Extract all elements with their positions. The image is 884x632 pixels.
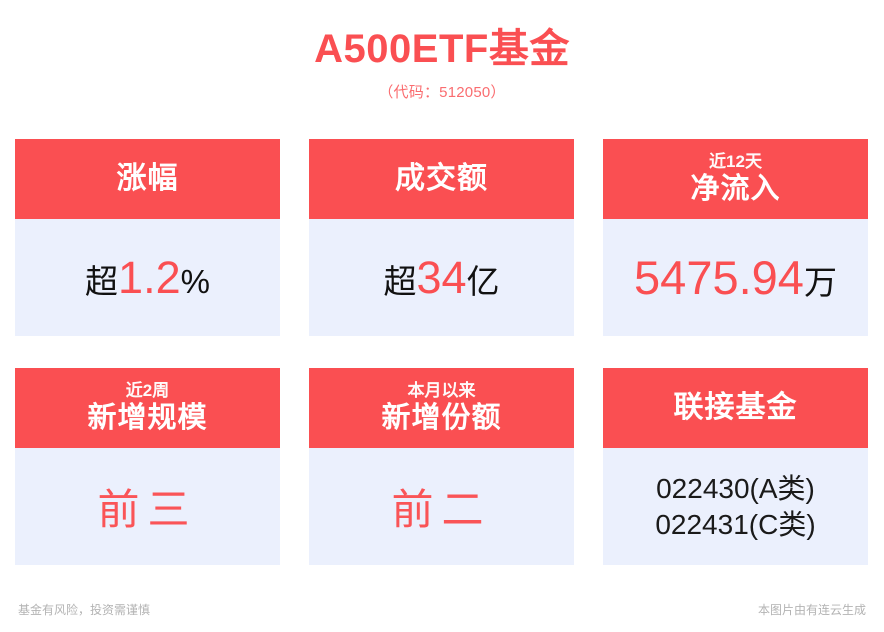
value-suffix-change-rate: % [181, 263, 210, 300]
card-body-change-rate: 超1.2% [15, 219, 280, 336]
card-header-new-scale: 近2周 新增规模 [15, 368, 280, 448]
value-suffix-turnover: 亿 [467, 263, 500, 300]
card-body-net-inflow: 5475.94万 [603, 219, 868, 336]
card-header-sub-new-shares: 本月以来 [408, 380, 476, 401]
card-header-feeder-fund: 联接基金 [603, 368, 868, 448]
card-header-main-new-scale: 新增规模 [87, 401, 207, 436]
feeder-fund-code-a: 022430(A类) [656, 471, 815, 507]
card-header-sub-net-inflow: 近12天 [709, 151, 762, 172]
feeder-fund-code-c: 022431(C类) [655, 507, 815, 543]
metric-card-grid: 涨幅 超1.2% 成交额 超34亿 近12天 净流入 5475.94万 [15, 139, 869, 565]
metric-card-new-shares[interactable]: 本月以来 新增份额 前二 [309, 368, 574, 565]
metric-value-change-rate: 超1.2% [85, 252, 210, 304]
page-title: A500ETF基金 [0, 26, 884, 73]
card-header-turnover: 成交额 [309, 139, 574, 219]
card-header-net-inflow: 近12天 净流入 [603, 139, 868, 219]
metric-card-turnover[interactable]: 成交额 超34亿 [309, 139, 574, 336]
metric-value-net-inflow: 5475.94万 [634, 250, 837, 305]
metric-value-new-scale: 前三 [97, 476, 197, 537]
card-header-new-shares: 本月以来 新增份额 [309, 368, 574, 448]
metric-value-turnover: 超34亿 [383, 252, 499, 304]
card-header-main-net-inflow: 净流入 [690, 172, 780, 207]
card-header-sub-new-scale: 近2周 [126, 380, 169, 401]
card-header-main-turnover: 成交额 [395, 161, 488, 197]
metric-card-feeder-fund[interactable]: 联接基金 022430(A类) 022431(C类) [603, 368, 868, 565]
metric-card-net-inflow[interactable]: 近12天 净流入 5475.94万 [603, 139, 868, 336]
fund-code-subtitle: （代码：512050） [0, 81, 884, 102]
card-header-change-rate: 涨幅 [15, 139, 280, 219]
source-attribution: 本图片由有连云生成 [758, 601, 866, 618]
risk-disclaimer: 基金有风险，投资需谨慎 [18, 601, 150, 618]
value-prefix-turnover: 超 [383, 263, 416, 300]
metric-card-new-scale[interactable]: 近2周 新增规模 前三 [15, 368, 280, 565]
value-prefix-change-rate: 超 [85, 263, 118, 300]
card-body-new-shares: 前二 [309, 448, 574, 565]
card-body-new-scale: 前三 [15, 448, 280, 565]
metric-card-change-rate[interactable]: 涨幅 超1.2% [15, 139, 280, 336]
value-number-change-rate: 1.2 [118, 252, 181, 303]
card-header-main-new-shares: 新增份额 [381, 401, 501, 436]
value-suffix-net-inflow: 万 [804, 264, 837, 301]
card-body-turnover: 超34亿 [309, 219, 574, 336]
page-header: A500ETF基金 （代码：512050） [0, 0, 884, 102]
value-number-turnover: 34 [416, 252, 466, 303]
card-body-feeder-fund: 022430(A类) 022431(C类) [603, 448, 868, 565]
value-number-net-inflow: 5475.94 [634, 251, 804, 304]
card-header-main-change-rate: 涨幅 [117, 161, 179, 197]
metric-value-new-shares: 前二 [391, 476, 491, 537]
card-header-main-feeder-fund: 联接基金 [674, 390, 798, 426]
page-footer: 基金有风险，投资需谨慎 本图片由有连云生成 [0, 601, 884, 618]
